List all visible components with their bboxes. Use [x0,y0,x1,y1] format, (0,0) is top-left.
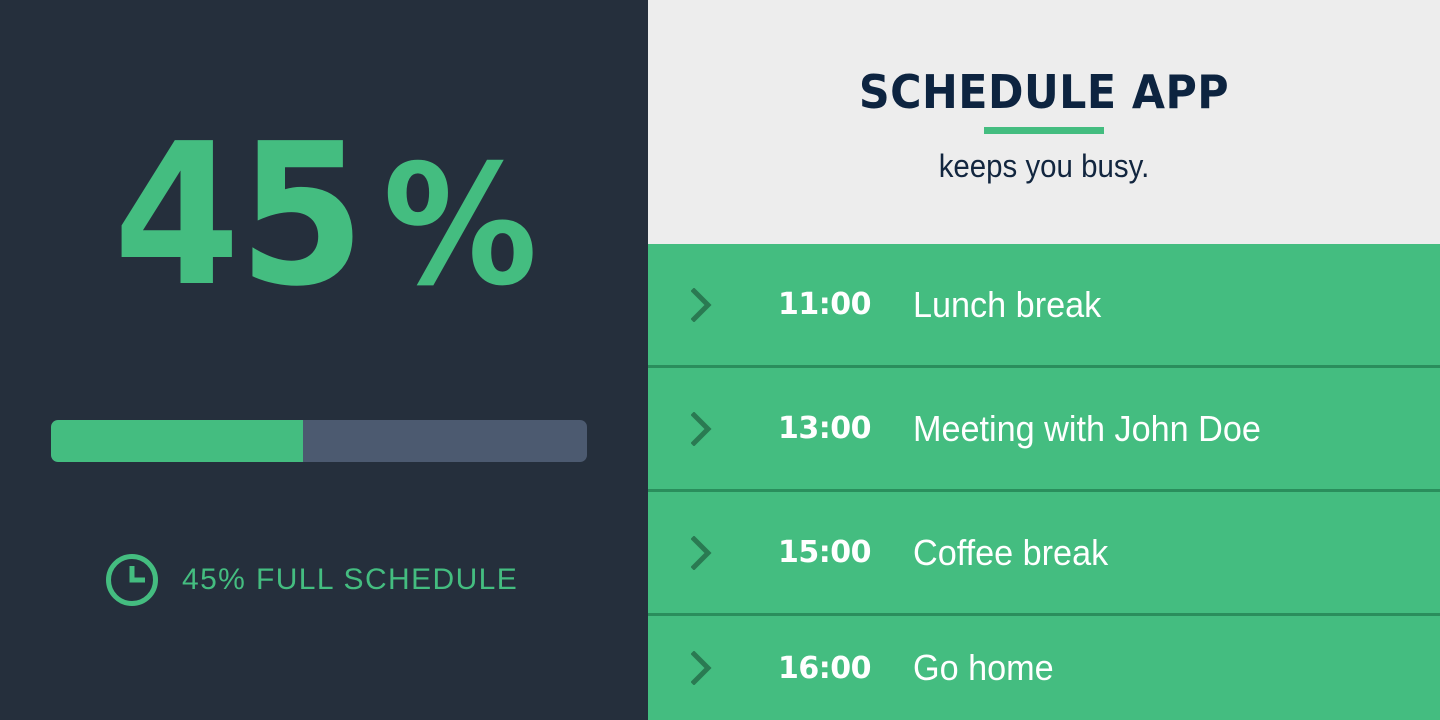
schedule-row[interactable]: 11:00Lunch break [648,244,1440,368]
chevron-right-icon[interactable] [648,412,713,446]
app-header: SCHEDULE APP keeps you busy. [648,0,1440,244]
progress-bar-track[interactable] [51,420,587,462]
schedule-row-label: Meeting with John Doe [913,408,1261,450]
schedule-row[interactable]: 15:00Coffee break [648,492,1440,616]
schedule-row[interactable]: 16:00Go home [648,616,1440,720]
chevron-right-icon[interactable] [648,651,713,685]
schedule-row[interactable]: 13:00Meeting with John Doe [648,368,1440,492]
chevron-right-icon[interactable] [648,536,713,570]
schedule-row-time: 16:00 [778,651,898,686]
schedule-row-label: Lunch break [913,284,1101,326]
schedule-row-time: 13:00 [778,411,898,446]
page-subtitle: keeps you busy. [680,148,1409,185]
schedule-list: 11:00Lunch break13:00Meeting with John D… [648,244,1440,720]
page-title: SCHEDULE APP [676,65,1413,119]
schedule-row-label: Go home [913,647,1054,689]
title-underline-rule [984,127,1104,134]
progress-panel: 45% 45% FULL SCHEDULE [0,0,648,720]
schedule-app-infographic: 45% 45% FULL SCHEDULE SCHEDULE APP keeps… [0,0,1440,720]
progress-bar-fill [51,420,303,462]
schedule-panel: SCHEDULE APP keeps you busy. 11:00Lunch … [648,0,1440,720]
percent-value: 45 [114,118,364,314]
schedule-row-time: 15:00 [778,535,898,570]
schedule-row-time: 11:00 [778,287,898,322]
schedule-fullness-caption: 45% FULL SCHEDULE [104,552,518,608]
schedule-row-label: Coffee break [913,532,1108,574]
caption-text: 45% FULL SCHEDULE [182,563,518,597]
percent-sign: % [383,144,538,310]
percent-display: 45% [0,118,648,314]
chevron-right-icon[interactable] [648,288,713,322]
clock-icon [104,552,160,608]
